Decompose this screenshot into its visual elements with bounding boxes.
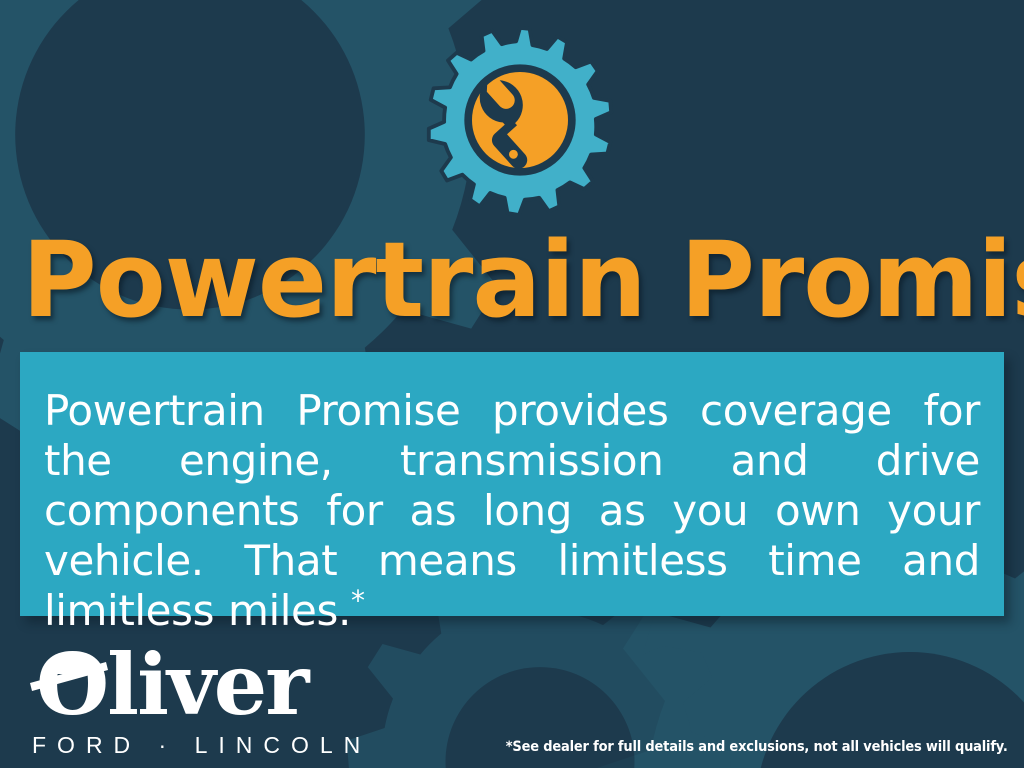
footnote-asterisk: *	[351, 584, 365, 617]
page-title: Powertrain Promise	[22, 222, 992, 338]
disclaimer-text: *See dealer for full details and exclusi…	[506, 738, 1008, 756]
message-body-text: Powertrain Promise provides coverage for…	[44, 386, 980, 635]
message-panel: Powertrain Promise provides coverage for…	[20, 352, 1004, 616]
oliver-ford-lincoln-logo: Oliver FORD · LINCOLN	[28, 640, 328, 762]
gear-wrench-icon	[424, 24, 616, 216]
oliver-wordmark: Oliver	[28, 640, 328, 730]
powertrain-promise-poster: Powertrain Promise Powertrain Promise pr…	[0, 0, 1024, 768]
message-body: Powertrain Promise provides coverage for…	[44, 386, 980, 636]
logo-subtitle: FORD · LINCOLN	[32, 732, 371, 759]
